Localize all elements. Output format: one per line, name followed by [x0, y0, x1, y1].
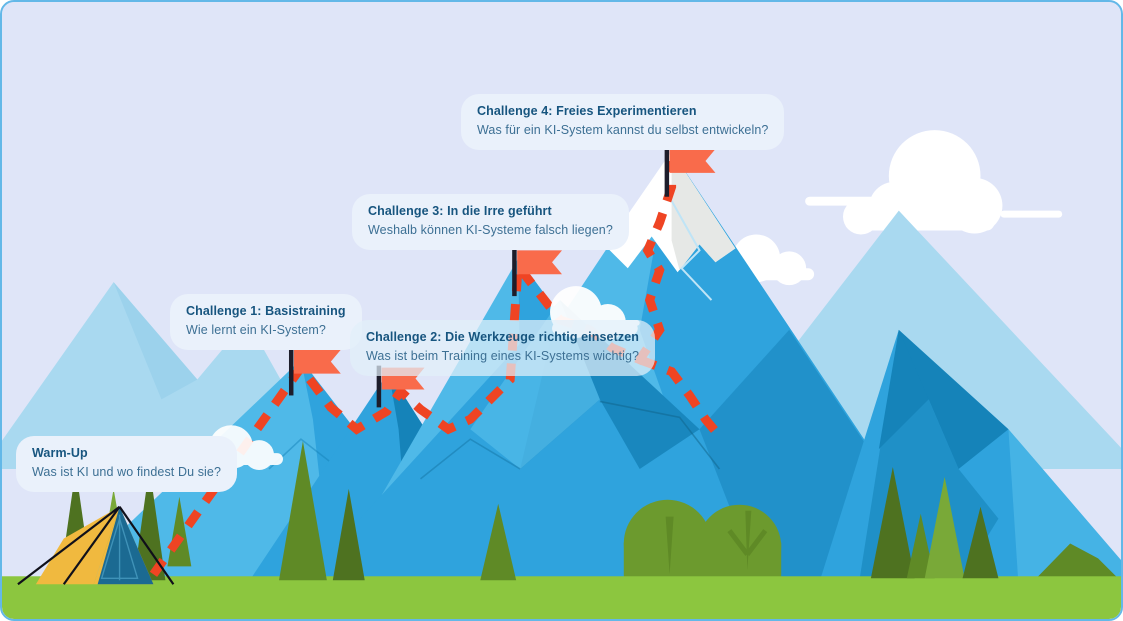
callout-challenge-1[interactable]: Challenge 1: Basistraining Wie lernt ein…: [170, 294, 362, 350]
illustration-canvas: Warm-Up Was ist KI und wo findest Du sie…: [0, 0, 1123, 621]
callout-challenge-2[interactable]: Challenge 2: Die Werkzeuge richtig einse…: [350, 320, 655, 376]
callout-title: Challenge 1: Basistraining: [186, 303, 346, 320]
callout-title: Challenge 2: Die Werkzeuge richtig einse…: [366, 329, 639, 346]
callout-question: Was ist beim Training eines KI-Systems w…: [366, 348, 639, 365]
callout-question: Wie lernt ein KI-System?: [186, 322, 346, 339]
callout-title: Challenge 4: Freies Experimentieren: [477, 103, 768, 120]
grass-ground: [2, 576, 1121, 619]
callout-question: Was für ein KI-System kannst du selbst e…: [477, 122, 768, 139]
callout-title: Warm-Up: [32, 445, 221, 462]
callout-warm-up[interactable]: Warm-Up Was ist KI und wo findest Du sie…: [16, 436, 237, 492]
callout-question: Weshalb können KI-Systeme falsch liegen?: [368, 222, 613, 239]
callout-question: Was ist KI und wo findest Du sie?: [32, 464, 221, 481]
callout-title: Challenge 3: In die Irre geführt: [368, 203, 613, 220]
callout-challenge-4[interactable]: Challenge 4: Freies Experimentieren Was …: [461, 94, 784, 150]
callout-challenge-3[interactable]: Challenge 3: In die Irre geführt Weshalb…: [352, 194, 629, 250]
